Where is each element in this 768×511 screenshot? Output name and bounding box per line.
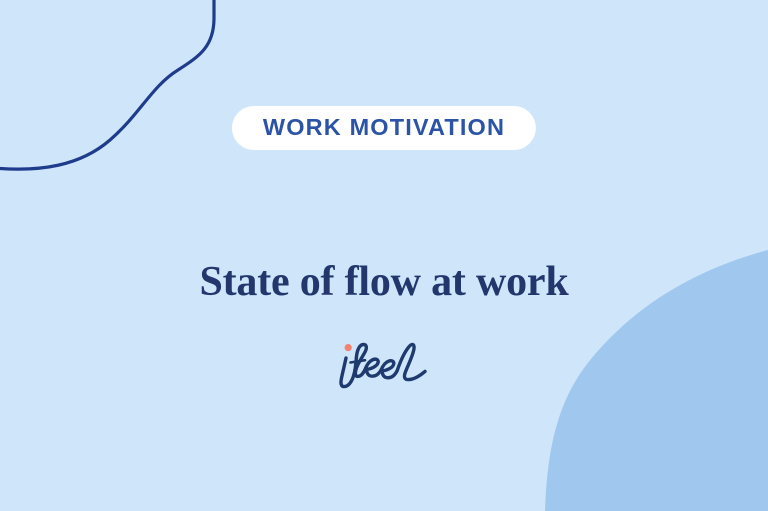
promo-card: WORK MOTIVATION State of flow at work if…	[0, 0, 768, 511]
card-content: WORK MOTIVATION State of flow at work if…	[0, 0, 768, 511]
brand-logo[interactable]: ifeel	[324, 336, 444, 392]
category-badge[interactable]: WORK MOTIVATION	[232, 106, 536, 150]
ifeel-logo-dot	[345, 344, 352, 351]
ifeel-logo-icon	[324, 336, 444, 392]
category-badge-label: WORK MOTIVATION	[263, 116, 505, 140]
page-title: State of flow at work	[84, 259, 684, 305]
